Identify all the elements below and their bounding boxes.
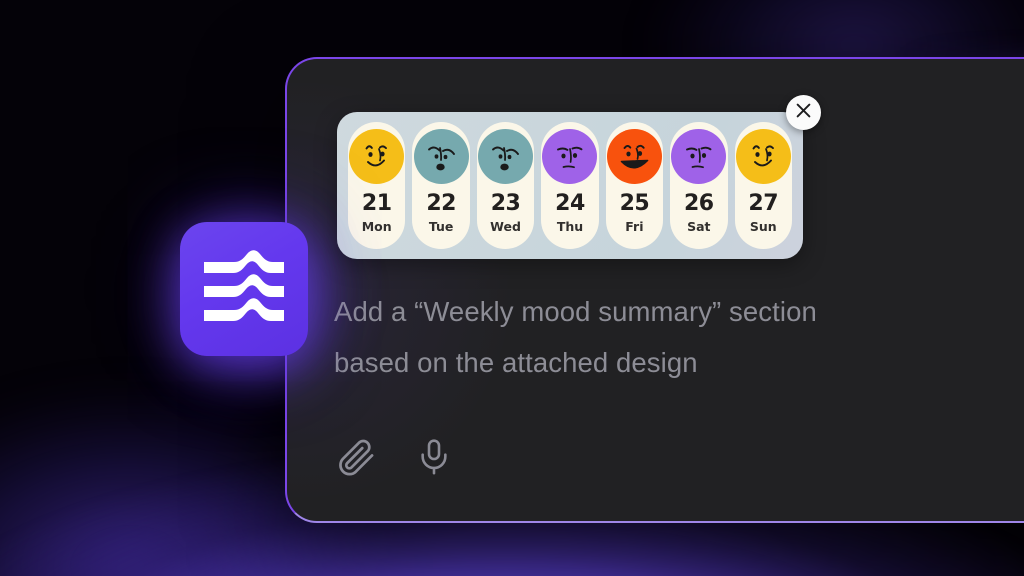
day-pill-fri[interactable]: 25 Fri	[606, 122, 663, 249]
wave-lines-logo-icon	[202, 248, 286, 331]
composer-toolbar	[332, 434, 459, 484]
mood-face-smiling-mon	[349, 129, 404, 184]
day-weekday-label: Sun	[750, 221, 777, 234]
mood-face-happy-fri	[607, 129, 662, 184]
paperclip-icon	[336, 436, 378, 483]
day-pill-tue[interactable]: 22 Tue	[412, 122, 469, 249]
day-weekday-label: Wed	[490, 221, 521, 234]
day-pill-sat[interactable]: 26 Sat	[670, 122, 727, 249]
prompt-text[interactable]: Add a “Weekly mood summary” section base…	[334, 286, 974, 388]
mood-face-sad-tue	[414, 129, 469, 184]
mood-face-neutral-thu	[542, 129, 597, 184]
app-logo[interactable]	[180, 222, 308, 356]
day-number: 27	[748, 193, 778, 215]
prompt-line-1: Add a “Weekly mood summary” section	[334, 286, 974, 337]
close-attachment-button[interactable]	[786, 95, 821, 130]
day-number: 24	[555, 193, 585, 215]
day-weekday-label: Thu	[557, 221, 583, 234]
mood-face-smiling-sun	[736, 129, 791, 184]
day-pill-wed[interactable]: 23 Wed	[477, 122, 534, 249]
prompt-line-2: based on the attached design	[334, 337, 974, 388]
day-number: 26	[684, 193, 714, 215]
day-number: 22	[426, 193, 456, 215]
day-pill-thu[interactable]: 24 Thu	[541, 122, 598, 249]
attachment-card-mood-week[interactable]: 21 Mon 22 Tue 23 Wed	[337, 112, 803, 259]
day-pill-mon[interactable]: 21 Mon	[348, 122, 405, 249]
day-number: 25	[620, 193, 650, 215]
day-number: 23	[491, 193, 521, 215]
mood-face-neutral-sat	[671, 129, 726, 184]
day-weekday-label: Tue	[429, 221, 454, 234]
close-icon	[795, 102, 812, 124]
day-weekday-label: Mon	[362, 221, 392, 234]
day-weekday-label: Fri	[625, 221, 643, 234]
screenshot-stage: 21 Mon 22 Tue 23 Wed	[0, 0, 1024, 576]
mood-face-sad-wed	[478, 129, 533, 184]
day-pill-sun[interactable]: 27 Sun	[735, 122, 792, 249]
microphone-icon	[414, 437, 454, 482]
voice-input-button[interactable]	[409, 434, 459, 484]
day-weekday-label: Sat	[687, 221, 710, 234]
attach-file-button[interactable]	[332, 434, 382, 484]
day-number: 21	[362, 193, 392, 215]
